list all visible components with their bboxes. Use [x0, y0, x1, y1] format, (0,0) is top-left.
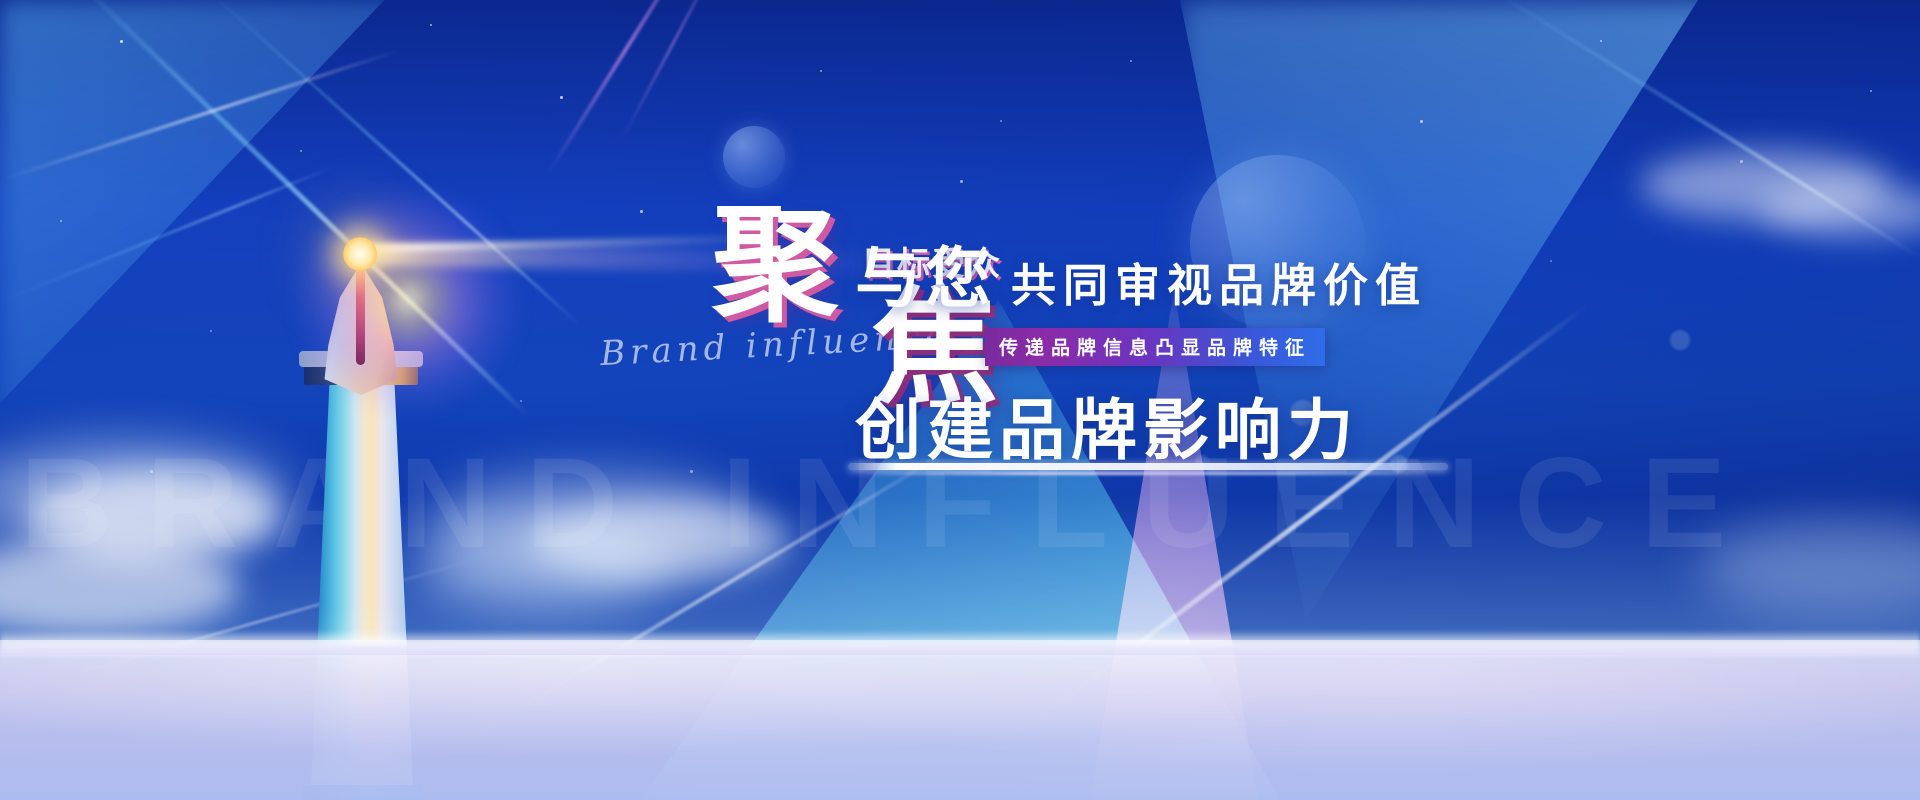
headline-block: Brand influence 聚 焦 目标受众 与您共同审视品牌价值 传递品牌…: [700, 195, 1880, 495]
review-value-text: 共同审视品牌价值: [1011, 249, 1427, 314]
lighthouse-lamp: [343, 237, 377, 271]
with-you-text: 与您: [855, 225, 995, 321]
headline-line-2: 创建品牌影响力: [855, 377, 1359, 473]
brand-banner: BRAND INFLUENCE Brand influence 聚 焦 目标受众…: [0, 0, 1920, 800]
focus-char-ju: 聚: [712, 203, 838, 329]
planet-small: [723, 126, 785, 188]
headline-line-1: 与您共同审视品牌价值: [855, 225, 1427, 321]
lighthouse-glow: [293, 185, 523, 415]
headline-underline-glow: [860, 472, 1435, 475]
sea-sheen: [0, 655, 1920, 800]
tagline-badge: 传递品牌信息凸显品牌特征: [985, 328, 1325, 366]
headline-underline: [848, 463, 1448, 470]
